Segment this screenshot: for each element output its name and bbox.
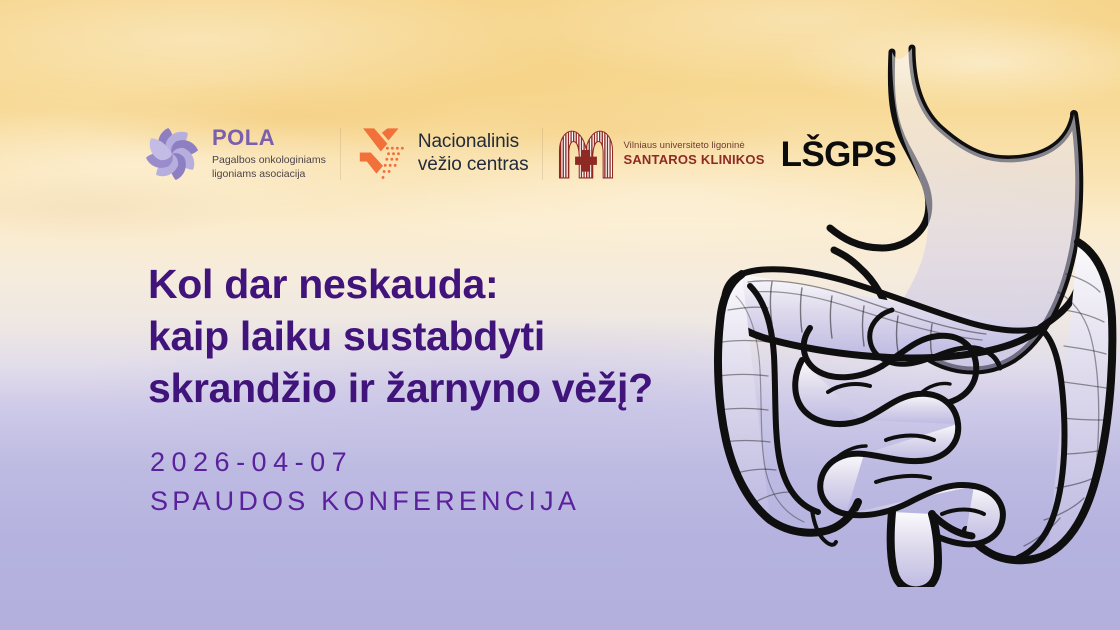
page-title: Kol dar neskauda: kaip laiku sustabdyti …: [148, 258, 653, 414]
pola-name: POLA: [212, 127, 326, 149]
event-date: 2026-04-07: [150, 443, 580, 482]
logo-pola[interactable]: POLA Pagalbos onkologiniams ligoniams as…: [141, 123, 326, 185]
stomach-and-intestines-illustration: [706, 42, 1120, 587]
pola-subtitle: Pagalbos onkologiniams ligoniams asociac…: [212, 154, 326, 181]
logo-divider-2: [542, 128, 543, 180]
nvc-chevron-icon: [355, 125, 411, 183]
event-details: 2026-04-07 SPAUDOS KONFERENCIJA: [150, 443, 580, 521]
nvc-wordmark: Nacionalinis vėžio centras: [418, 131, 529, 177]
event-type: SPAUDOS KONFERENCIJA: [150, 482, 580, 521]
logo-nacionalinis-vezio-centras[interactable]: Nacionalinis vėžio centras: [355, 125, 529, 183]
press-conference-poster: POLA Pagalbos onkologiniams ligoniams as…: [0, 0, 1120, 630]
pola-wordmark: POLA Pagalbos onkologiniams ligoniams as…: [212, 127, 326, 181]
pola-flower-icon: [141, 123, 203, 185]
logo-divider-1: [340, 128, 341, 180]
santaros-arch-cross-icon: [557, 128, 615, 180]
